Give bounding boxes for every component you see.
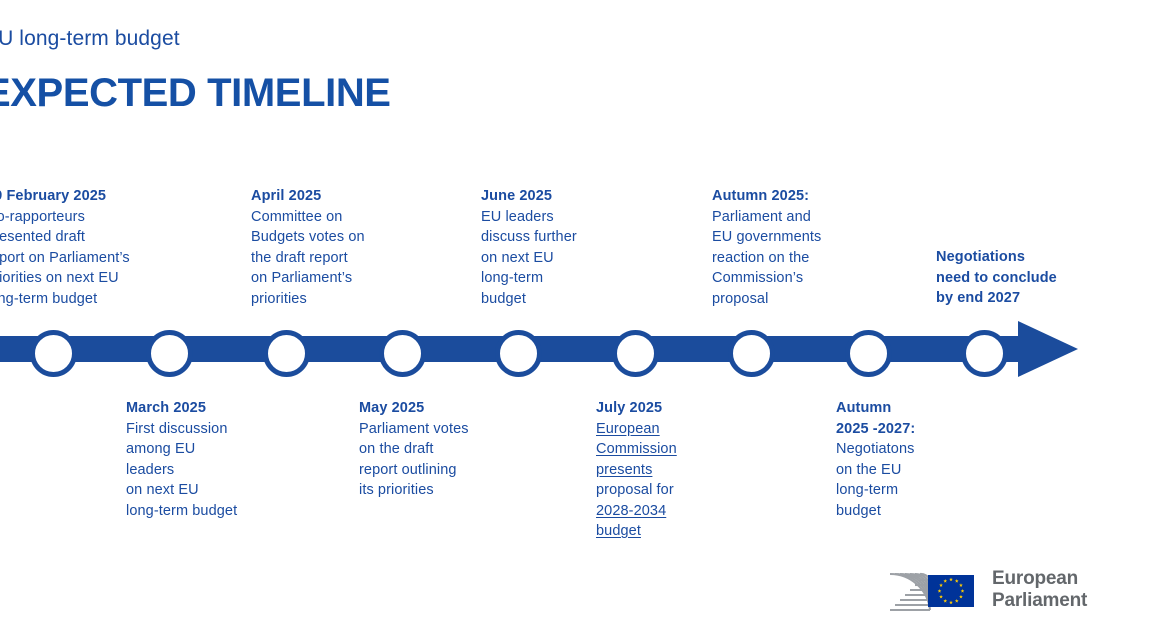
entry-body-line: Commission’s <box>712 268 872 289</box>
entry-body-line: report on Parliament’s <box>0 248 146 269</box>
page-title: EXPECTED TIMELINE <box>0 70 684 116</box>
entry-date-autumn-2025: Autumn 2025: <box>712 186 872 207</box>
timeline-node-2[interactable] <box>263 330 310 377</box>
entry-body-line: by end 2027 <box>936 288 1116 309</box>
timeline-entry-may-2025: May 2025Parliament voteson the draftrepo… <box>359 398 519 501</box>
page-kicker: EU long-term budget <box>0 26 684 52</box>
entry-body-line: First discussion <box>126 419 286 440</box>
ep-hemicycle-flag-icon <box>886 564 982 616</box>
timeline-node-8[interactable] <box>961 330 1008 377</box>
timeline-node-3[interactable] <box>379 330 426 377</box>
entry-body-line: leaders <box>126 460 286 481</box>
entry-body-line: European <box>596 419 746 440</box>
entry-body-conclude-2027: Negotiationsneed to concludeby end 2027 <box>936 247 1116 309</box>
timeline-node-7[interactable] <box>845 330 892 377</box>
entry-body-line: discuss further <box>481 227 631 248</box>
entry-body-line: long-term budget <box>0 289 146 310</box>
entry-body-line: on next EU <box>126 480 286 501</box>
entry-date-apr-2025: April 2025 <box>251 186 411 207</box>
entry-body-line: 2028-2034 <box>596 501 746 522</box>
timeline-node-1[interactable] <box>146 330 193 377</box>
timeline-entry-mar-2025: March 2025First discussionamong EUleader… <box>126 398 286 521</box>
entry-body-apr-2025: Committee onBudgets votes onthe draft re… <box>251 207 411 310</box>
entry-body-line: budget <box>836 501 986 522</box>
entry-body-jul-2025[interactable]: EuropeanCommissionpresentsproposal for20… <box>596 419 746 542</box>
entry-body-line: on the draft <box>359 439 519 460</box>
entry-body-line: the draft report <box>251 248 411 269</box>
entry-body-line: Co-rapporteurs <box>0 207 146 228</box>
timeline-entry-autumn-2025: Autumn 2025:Parliament andEU governments… <box>712 186 872 309</box>
entry-body-line: EU leaders <box>481 207 631 228</box>
timeline-node-4[interactable] <box>495 330 542 377</box>
timeline-arrow-icon <box>1018 321 1078 377</box>
entry-body-line: report outlining <box>359 460 519 481</box>
entry-body-line: long-term <box>836 480 986 501</box>
entry-body-line: its priorities <box>359 480 519 501</box>
timeline-entry-feb-2025: 19 February 2025Co-rapporteurspresented … <box>0 186 146 309</box>
timeline-node-0[interactable] <box>30 330 77 377</box>
entry-body-line: proposal for <box>596 480 746 501</box>
entry-body-mar-2025: First discussionamong EUleaderson next E… <box>126 419 286 522</box>
entry-body-line: priorities on next EU <box>0 268 146 289</box>
entry-link-fragment[interactable]: proposal <box>596 482 652 498</box>
entry-date-autumn-2025-2027-0: Autumn <box>836 398 986 419</box>
entry-body-line: need to conclude <box>936 268 1116 289</box>
timeline-entry-jun-2025: June 2025EU leadersdiscuss furtheron nex… <box>481 186 631 309</box>
timeline-entry-apr-2025: April 2025Committee onBudgets votes onth… <box>251 186 411 309</box>
entry-date-may-2025: May 2025 <box>359 398 519 419</box>
entry-body-line: presented draft <box>0 227 146 248</box>
timeline-axis <box>0 330 1151 368</box>
timeline-node-6[interactable] <box>728 330 775 377</box>
entry-body-line: priorities <box>251 289 411 310</box>
entry-date-mar-2025: March 2025 <box>126 398 286 419</box>
entry-body-line: budget <box>596 521 746 542</box>
entry-body-line: Parliament votes <box>359 419 519 440</box>
entry-date-feb-2025: 19 February 2025 <box>0 186 146 207</box>
entry-body-autumn-2025: Parliament andEU governmentsreaction on … <box>712 207 872 310</box>
entry-body-may-2025: Parliament voteson the draftreport outli… <box>359 419 519 501</box>
entry-body-line: long-term budget <box>126 501 286 522</box>
entry-body-line: Budgets votes on <box>251 227 411 248</box>
page-header: EU long-term budget EXPECTED TIMELINE <box>0 26 684 116</box>
entry-body-line: EU governments <box>712 227 872 248</box>
entry-body-jun-2025: EU leadersdiscuss furtheron next EUlong-… <box>481 207 631 310</box>
entry-body-line: budget <box>481 289 631 310</box>
timeline-entry-conclude-2027: Negotiationsneed to concludeby end 2027 <box>936 247 1116 309</box>
entry-body-autumn-2025-2027: Negotiatonson the EUlong-termbudget <box>836 439 986 521</box>
entry-body-line: Committee on <box>251 207 411 228</box>
entry-body-line: reaction on the <box>712 248 872 269</box>
entry-body-line: Negotiations <box>936 247 1116 268</box>
european-parliament-logo: European Parliament <box>886 562 1086 618</box>
entry-body-line: presents <box>596 460 746 481</box>
ep-logo-line2: Parliament <box>992 590 1087 612</box>
entry-date-jul-2025: July 2025 <box>596 398 746 419</box>
ep-logo-text: European Parliament <box>992 568 1087 612</box>
timeline-entry-autumn-2025-2027: Autumn2025 -2027:Negotiatonson the EUlon… <box>836 398 986 521</box>
entry-body-line: among EU <box>126 439 286 460</box>
entry-body-line: on the EU <box>836 460 986 481</box>
entry-body-line: on next EU <box>481 248 631 269</box>
entry-body-line: proposal <box>712 289 872 310</box>
entry-body-line: on Parliament’s <box>251 268 411 289</box>
timeline-node-5[interactable] <box>612 330 659 377</box>
entry-body-line: Commission <box>596 439 746 460</box>
entry-date-jun-2025: June 2025 <box>481 186 631 207</box>
entry-body-line: Parliament and <box>712 207 872 228</box>
entry-body-line: long-term <box>481 268 631 289</box>
timeline-entry-jul-2025: July 2025EuropeanCommissionpresentspropo… <box>596 398 746 542</box>
entry-date-autumn-2025-2027-1: 2025 -2027: <box>836 419 986 440</box>
ep-logo-line1: European <box>992 568 1087 590</box>
entry-body-line: Negotiatons <box>836 439 986 460</box>
entry-body-feb-2025: Co-rapporteurspresented draftreport on P… <box>0 207 146 310</box>
